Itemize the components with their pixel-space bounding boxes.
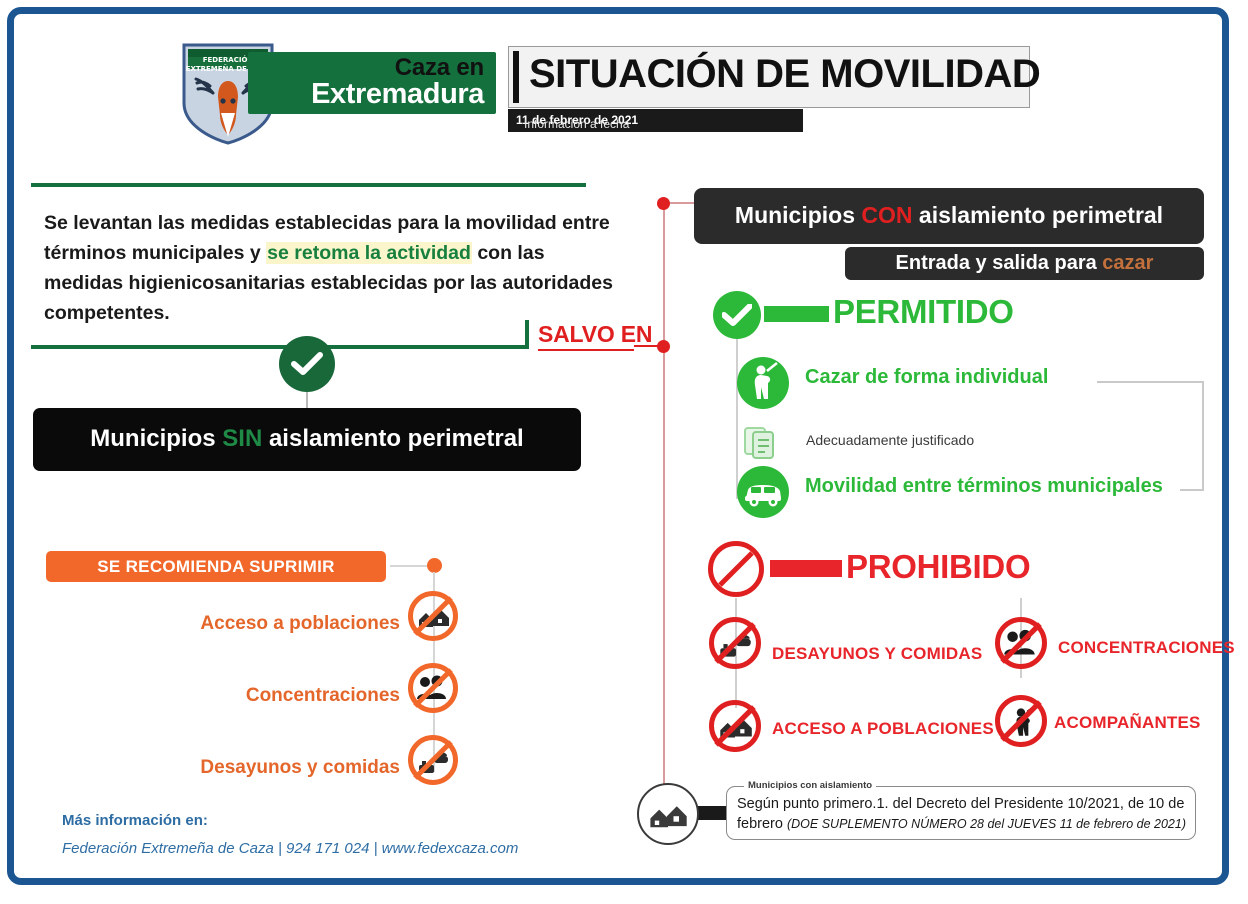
municipios-con-text: Municipios CON aislamiento perimetral bbox=[694, 202, 1204, 229]
municipios-sin-text: Municipios SIN aislamiento perimetral bbox=[33, 425, 581, 453]
permitido-bracket-top bbox=[1097, 381, 1204, 383]
caza-en-extremadura-banner: Caza en Extremadura bbox=[248, 52, 496, 114]
prohibido-item-3-label: ACOMPAÑANTES bbox=[1054, 713, 1201, 733]
infographic-canvas: FEDERACIÓN EXTREMEÑA DE CAZA Caza en Ext… bbox=[0, 0, 1248, 904]
se-recomienda-suprimir-banner: SE RECOMIENDA SUPRIMIR bbox=[46, 551, 386, 582]
page-title-box: SITUACIÓN DE MOVILIDAD bbox=[508, 46, 1030, 108]
more-info-title: Más información en: bbox=[62, 812, 208, 829]
municipios-con-banner: Municipios CON aislamiento perimetral bbox=[694, 188, 1204, 244]
date-bar: Información a fecha 11 de febrero de 202… bbox=[508, 109, 803, 132]
footnote-text: Según punto primero.1. del Decreto del P… bbox=[737, 794, 1189, 834]
sin-suffix: aislamiento perimetral bbox=[262, 425, 523, 452]
permitido-check-icon bbox=[713, 291, 761, 339]
subbanner-prefix: Entrada y salida para bbox=[896, 252, 1103, 274]
car-icon bbox=[737, 466, 789, 518]
no-meals-icon bbox=[408, 735, 458, 785]
hunter-icon bbox=[737, 357, 789, 409]
check-circle-icon bbox=[279, 336, 335, 392]
no-town-access-icon bbox=[709, 700, 761, 752]
prohibido-dash bbox=[770, 560, 842, 577]
permitido-bracket-vertical bbox=[1202, 381, 1204, 491]
suprimir-item-2-label: Desayunos y comidas bbox=[110, 757, 400, 779]
left-rule-hook bbox=[525, 320, 529, 349]
svg-text:FEDERACIÓN: FEDERACIÓN bbox=[203, 55, 254, 64]
suprimir-item-0-label: Acceso a poblaciones bbox=[130, 613, 400, 635]
footnote-source: (DOE SUPLEMENTO NÚMERO 28 del JUEVES 11 … bbox=[787, 817, 1186, 831]
page-title: SITUACIÓN DE MOVILIDAD bbox=[529, 52, 1040, 97]
suprimir-item-1-label: Concentraciones bbox=[130, 685, 400, 707]
red-connector-bottom-dot bbox=[657, 340, 670, 353]
suprimir-title: SE RECOMIENDA SUPRIMIR bbox=[46, 557, 386, 577]
no-town-access-icon bbox=[408, 591, 458, 641]
no-meals-icon bbox=[709, 617, 761, 669]
salvo-en-underline bbox=[538, 349, 634, 351]
permitido-item-2-label: Movilidad entre términos municipales bbox=[805, 475, 1163, 498]
left-bottom-rule bbox=[31, 345, 529, 349]
footnote-legend: Municipios con aislamiento bbox=[744, 780, 876, 791]
permitido-bracket-bottom bbox=[1180, 489, 1204, 491]
permitido-dash bbox=[764, 306, 829, 322]
con-suffix: aislamiento perimetral bbox=[913, 202, 1164, 228]
prohibido-item-1-label: CONCENTRACIONES bbox=[1058, 638, 1235, 658]
intro-paragraph: Se levantan las medidas establecidas par… bbox=[44, 208, 624, 328]
red-connector-top-dot bbox=[657, 197, 670, 210]
salvo-en-label: SALVO EN bbox=[538, 321, 652, 348]
date-prefix: Información a fecha bbox=[524, 117, 629, 131]
footnote-town-icon bbox=[637, 783, 699, 845]
prohibido-ban-icon bbox=[708, 541, 764, 597]
no-gathering-icon bbox=[995, 617, 1047, 669]
con-keyword: CON bbox=[861, 202, 912, 228]
entrada-salida-banner: Entrada y salida para cazar bbox=[845, 247, 1204, 280]
document-icon bbox=[741, 422, 781, 462]
municipios-sin-banner: Municipios SIN aislamiento perimetral bbox=[33, 408, 581, 471]
sin-prefix: Municipios bbox=[90, 425, 222, 452]
con-prefix: Municipios bbox=[735, 202, 862, 228]
prohibido-item-0-label: DESAYUNOS Y COMIDAS bbox=[772, 644, 982, 664]
cazar-keyword: cazar bbox=[1102, 252, 1153, 274]
prohibido-item-2-label: ACCESO A POBLACIONES bbox=[772, 719, 994, 739]
left-top-rule bbox=[31, 183, 586, 187]
prohibido-title: PROHIBIDO bbox=[846, 548, 1030, 586]
no-companions-icon bbox=[995, 695, 1047, 747]
sin-keyword: SIN bbox=[222, 425, 262, 452]
suprimir-connector-dot bbox=[427, 558, 442, 573]
no-gathering-icon bbox=[408, 663, 458, 713]
permitido-title: PERMITIDO bbox=[833, 293, 1014, 331]
red-connector-line bbox=[663, 203, 665, 795]
permitido-item-0-label: Cazar de forma individual bbox=[805, 366, 1048, 389]
title-accent-bar bbox=[513, 51, 519, 103]
logo-line-2: Extremadura bbox=[311, 78, 484, 111]
more-info-line[interactable]: Federación Extremeña de Caza | 924 171 0… bbox=[62, 840, 518, 857]
entrada-salida-text: Entrada y salida para cazar bbox=[845, 252, 1204, 275]
permitido-item-1-label: Adecuadamente justificado bbox=[806, 432, 974, 448]
intro-highlight: se retoma la actividad bbox=[266, 242, 472, 264]
